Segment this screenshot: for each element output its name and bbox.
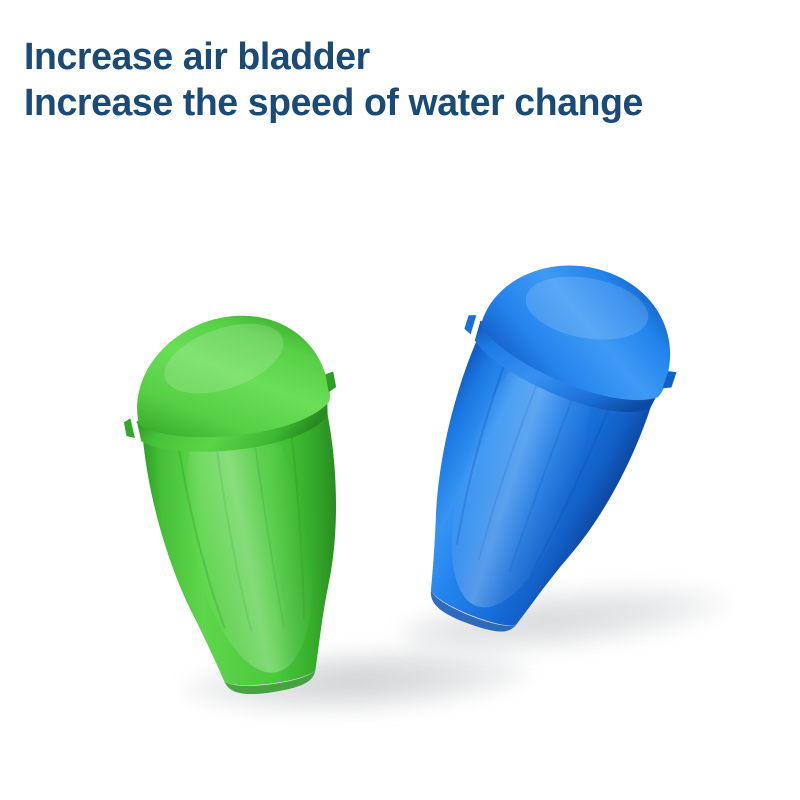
product-image-stage xyxy=(0,150,800,800)
headline-line-2: Increase the speed of water change xyxy=(24,80,782,126)
green-bladder-tab-left xyxy=(123,418,134,439)
product-banner-page: Increase air bladder Increase the speed … xyxy=(0,0,800,800)
green-air-bladder xyxy=(100,292,386,708)
page-title: Increase air bladder Increase the speed … xyxy=(24,34,782,126)
green-bladder-illustration xyxy=(100,292,386,708)
blue-bladder-tab-left xyxy=(462,313,478,335)
blue-air-bladder xyxy=(351,216,720,668)
blue-bladder-illustration xyxy=(351,216,720,668)
headline-line-1: Increase air bladder xyxy=(24,34,782,80)
